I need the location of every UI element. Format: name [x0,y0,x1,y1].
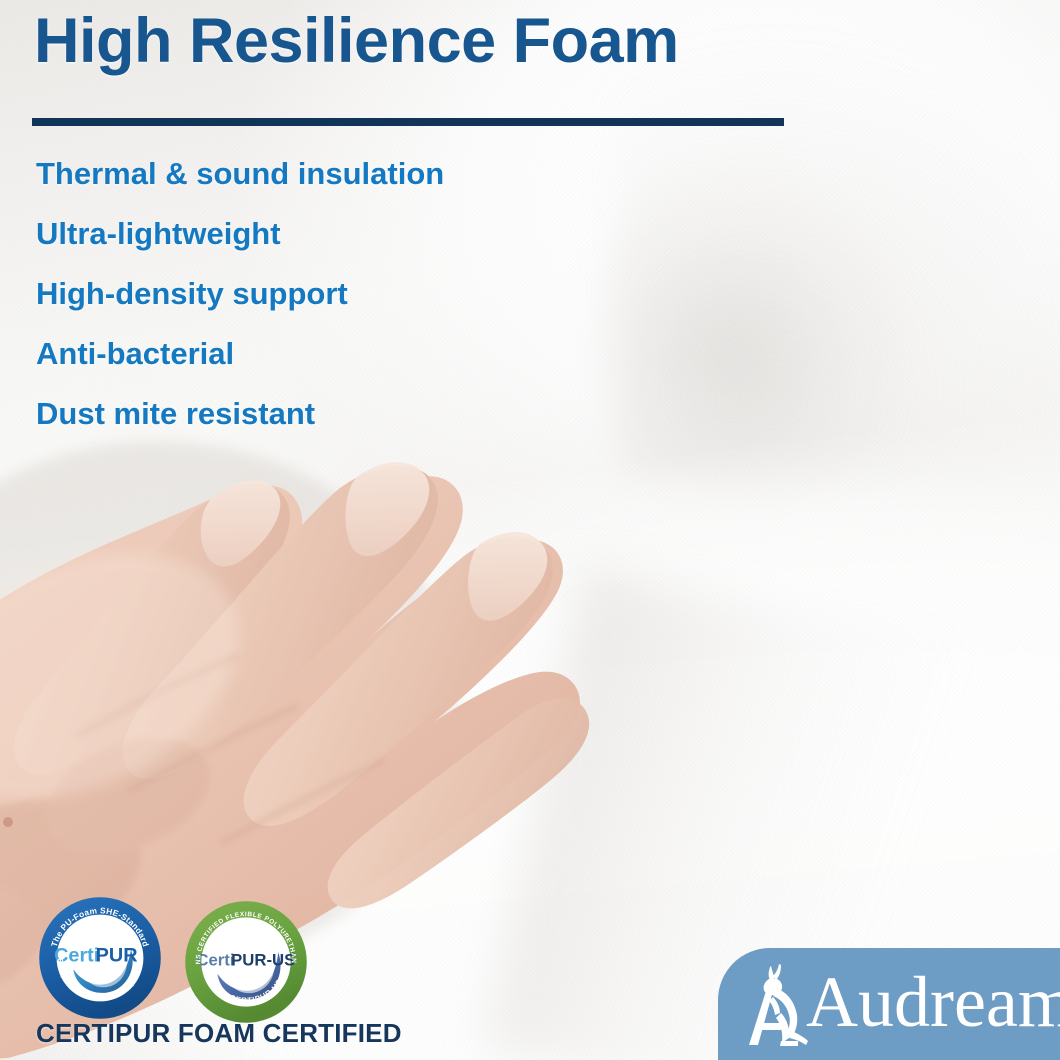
feature-item: Ultra-lightweight [36,218,656,249]
brand-logo-panel: Audreamy [718,948,1060,1060]
feature-item: Dust mite resistant [36,398,656,429]
kangaroo-icon [740,961,810,1047]
feature-list: Thermal & sound insulation Ultra-lightwe… [36,158,656,458]
certipur-us-badge-icon: Certi PUR-US ® CONTAINS CERTIFIED FLEXIB… [184,900,308,1024]
certification-badges: Certi PUR The PU-Foam SHE-Standard Europ… [38,896,308,1024]
brand-name: Audreamy [806,966,1060,1042]
certipur-eu-wordmark-dark: PUR [96,945,138,967]
certipur-eu-badge-icon: Certi PUR The PU-Foam SHE-Standard Europ… [38,896,162,1020]
page-title: High Resilience Foam [34,8,679,74]
certification-caption: CERTIPUR FOAM CERTIFIED [36,1018,402,1049]
feature-item: Anti-bacterial [36,338,656,369]
title-divider [32,118,784,126]
feature-item: Thermal & sound insulation [36,158,656,189]
product-feature-poster: High Resilience Foam Thermal & sound ins… [0,0,1060,1060]
feature-item: High-density support [36,278,656,309]
certipur-us-wordmark-dark: PUR-US [231,951,295,970]
